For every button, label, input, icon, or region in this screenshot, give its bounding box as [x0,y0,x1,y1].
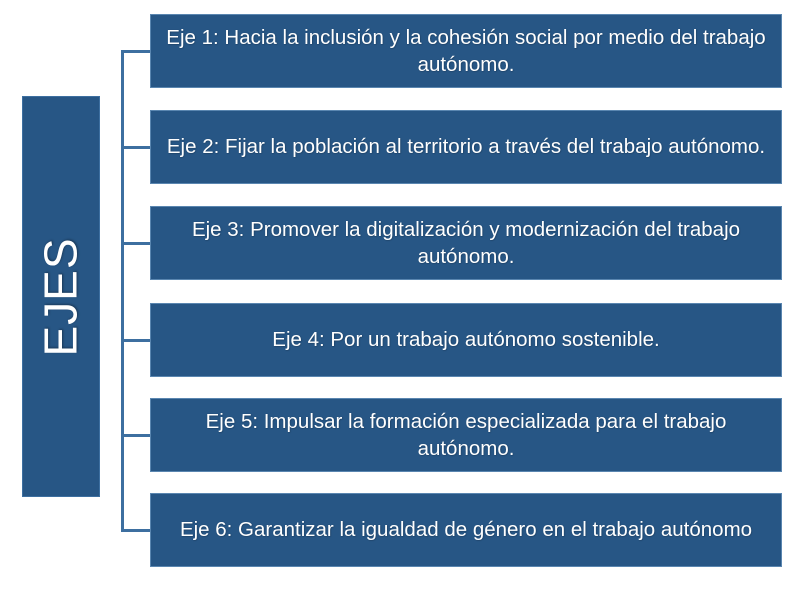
node-eje-6-label: Eje 6: Garantizar la igualdad de género … [180,516,752,543]
node-eje-1[interactable]: Eje 1: Hacia la inclusión y la cohesión … [150,14,782,88]
connector-stub-eje-1 [121,50,152,53]
connector-stub-eje-2 [121,146,152,149]
ejes-diagram: EJES Eje 1: Hacia la inclusión y la cohe… [0,0,800,589]
connector-trunk-line [121,50,124,529]
connector-stub-eje-3 [121,242,152,245]
connector-stub-eje-5 [121,434,152,437]
connector-stub-eje-6 [121,529,152,532]
node-eje-2[interactable]: Eje 2: Fijar la población al territorio … [150,110,782,184]
node-eje-4-label: Eje 4: Por un trabajo autónomo sostenibl… [272,326,659,353]
connector-stub-eje-4 [121,339,152,342]
root-node-ejes[interactable]: EJES [22,96,100,497]
node-eje-3-label: Eje 3: Promover la digitalización y mode… [165,216,767,270]
node-eje-5-label: Eje 5: Impulsar la formación especializa… [165,408,767,462]
root-node-label: EJES [38,237,84,356]
node-eje-6[interactable]: Eje 6: Garantizar la igualdad de género … [150,493,782,567]
node-eje-2-label: Eje 2: Fijar la población al territorio … [167,133,765,160]
node-eje-5[interactable]: Eje 5: Impulsar la formación especializa… [150,398,782,472]
node-eje-1-label: Eje 1: Hacia la inclusión y la cohesión … [165,24,767,78]
node-eje-4[interactable]: Eje 4: Por un trabajo autónomo sostenibl… [150,303,782,377]
node-eje-3[interactable]: Eje 3: Promover la digitalización y mode… [150,206,782,280]
